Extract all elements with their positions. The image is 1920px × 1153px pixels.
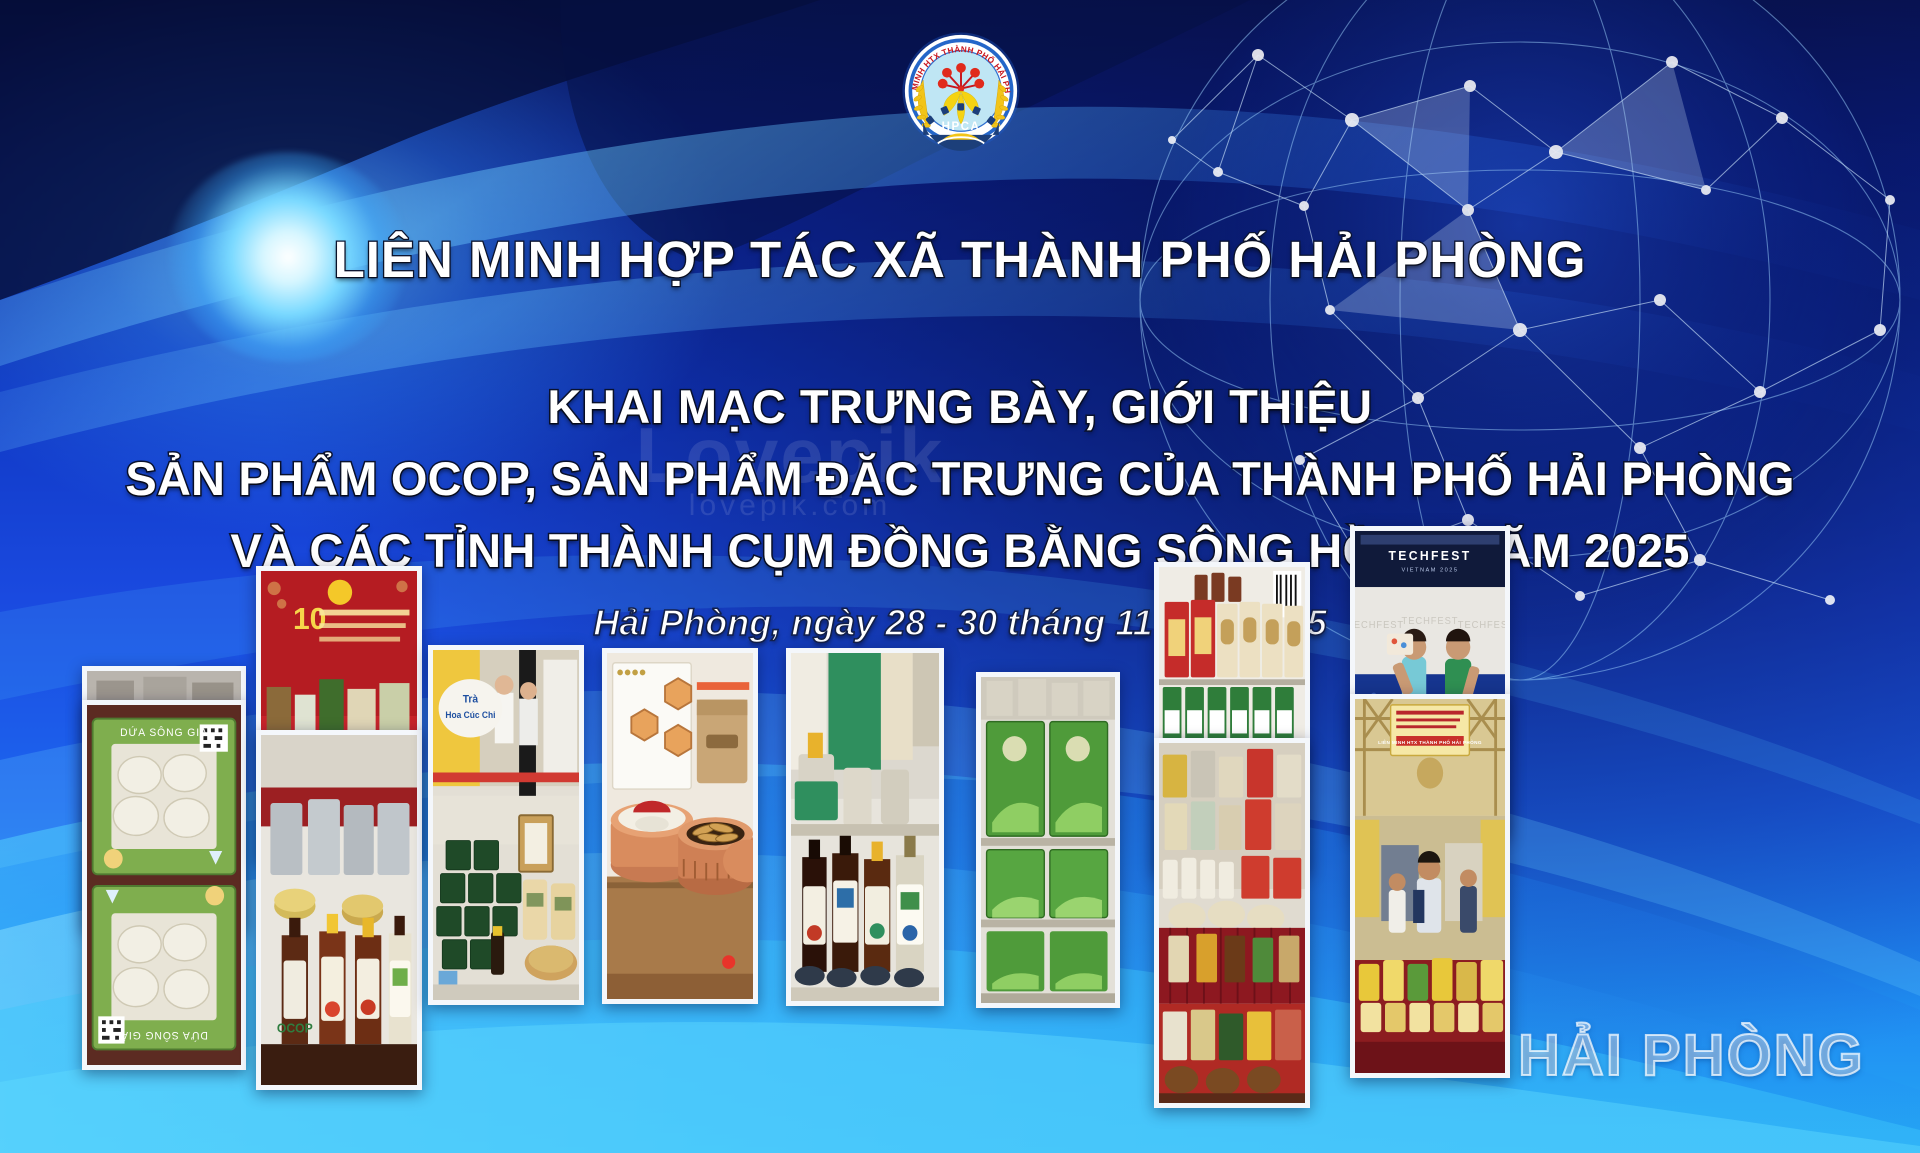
svg-text:OCOP: OCOP — [277, 1021, 313, 1035]
headline-line-1: KHAI MẠC TRƯNG BÀY, GIỚI THIỆU — [0, 383, 1920, 432]
photo-tra-hoa-cuc-chi: Trà Hoa Cúc Chi — [428, 645, 584, 1005]
hai-phong-watermark: HẢI PHÒNG — [1518, 1022, 1865, 1089]
logo-acronym: HPCA — [942, 121, 981, 133]
svg-text:10: 10 — [293, 602, 326, 636]
photo-market-stall-red — [1154, 738, 1310, 1108]
svg-text:TECHFEST: TECHFEST — [1458, 620, 1505, 631]
photo-sauce-bottles-stand — [786, 648, 944, 1006]
svg-text:VIETNAM 2025: VIETNAM 2025 — [1402, 568, 1459, 574]
photo-clay-pot-fish — [602, 648, 758, 1004]
photo-exhibition-hall: LIÊN MINH HTX THÀNH PHỐ HẢI PHÒNG — [1350, 694, 1510, 1078]
svg-text:TECHFEST: TECHFEST — [1402, 616, 1459, 627]
photo-green-boxes-shelf — [976, 672, 1120, 1008]
photo-ocop-bottles: OCOP — [256, 730, 422, 1090]
svg-text:TECHFEST: TECHFEST — [1388, 549, 1471, 563]
svg-text:Hoa Cúc Chi: Hoa Cúc Chi — [445, 710, 495, 720]
svg-text:DỨA SÔNG GIÁ: DỨA SÔNG GIÁ — [120, 726, 208, 739]
svg-text:Trà: Trà — [463, 694, 479, 705]
photo-dua-song-gia-boxes: DỨA SÔNG GIÁ DỨA SÔNG GIÁ — [82, 700, 246, 1070]
hpca-logo: LIÊN MINH HTX THÀNH PHỐ HẢI PHÒNG — [900, 30, 1022, 152]
svg-text:DỨA SÔNG GIÁ: DỨA SÔNG GIÁ — [120, 1029, 208, 1042]
poster-canvas: LIÊN MINH HTX THÀNH PHỐ HẢI PHÒNG — [0, 0, 1920, 1153]
organization-title: LIÊN MINH HỢP TÁC XÃ THÀNH PHỐ HẢI PHÒNG — [0, 233, 1920, 287]
svg-text:TECHFEST: TECHFEST — [1355, 620, 1404, 631]
headline-line-2: SẢN PHẨM OCOP, SẢN PHẨM ĐẶC TRƯNG CỦA TH… — [0, 455, 1920, 504]
